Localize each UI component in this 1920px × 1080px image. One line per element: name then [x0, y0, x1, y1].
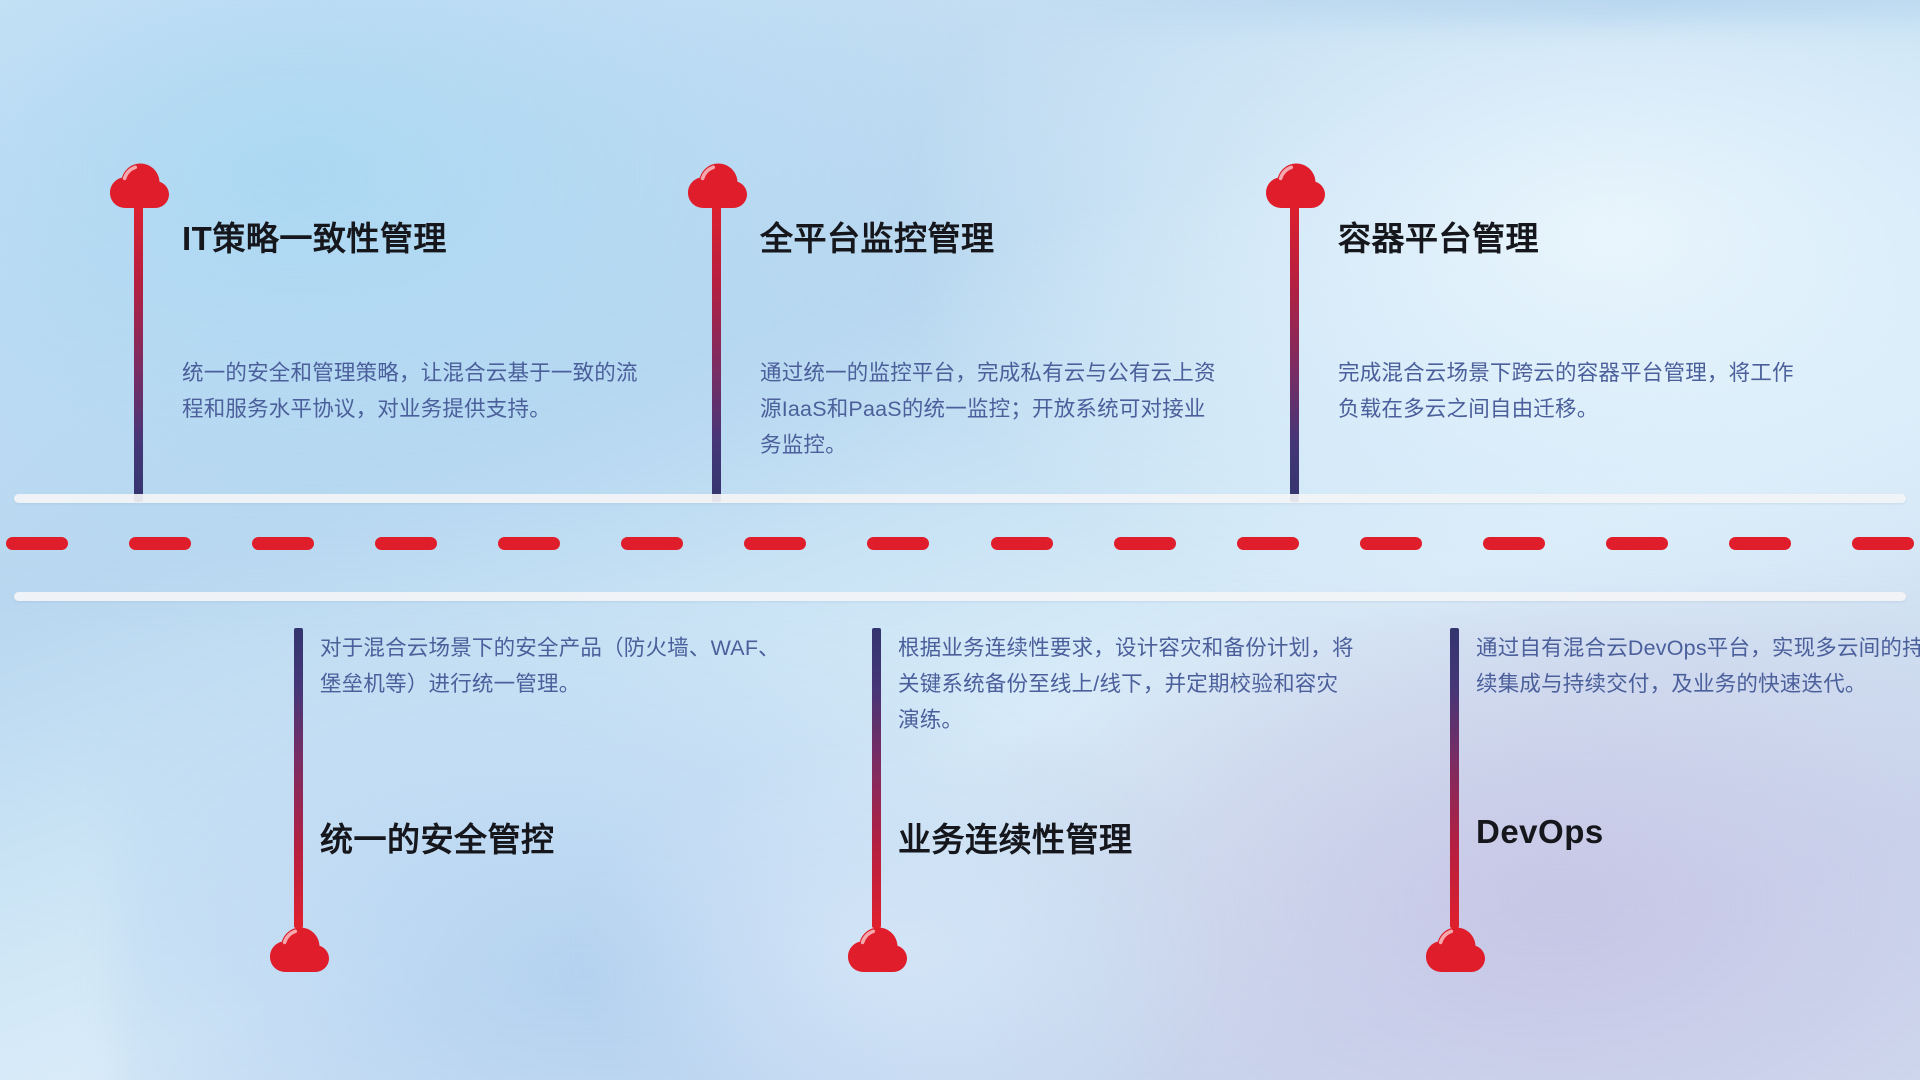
road-dash	[1729, 537, 1791, 550]
road-dash	[621, 537, 683, 550]
card-description: 根据业务连续性要求，设计容灾和备份计划，将关键系统备份至线上/线下，并定期校验和…	[898, 630, 1358, 738]
road-dash	[6, 537, 68, 550]
cloud-icon	[268, 924, 330, 974]
road-dash	[1852, 537, 1914, 550]
road-dash	[1114, 537, 1176, 550]
connector-stem	[294, 628, 303, 928]
card-heading: 业务连续性管理	[898, 813, 1133, 861]
cloud-icon	[1264, 160, 1326, 210]
road-center-dashes	[0, 537, 1920, 550]
card-heading: DevOps	[1476, 813, 1604, 851]
card-heading: 全平台监控管理	[760, 212, 995, 260]
card-heading: IT策略一致性管理	[182, 212, 447, 260]
road-dash	[375, 537, 437, 550]
connector-stem	[1290, 202, 1299, 502]
road-divider	[0, 488, 1920, 598]
road-edge-top	[14, 494, 1906, 503]
connector-stem	[872, 628, 881, 928]
road-dash	[129, 537, 191, 550]
road-dash	[1606, 537, 1668, 550]
cloud-icon	[1424, 924, 1486, 974]
cloud-icon	[846, 924, 908, 974]
road-dash	[498, 537, 560, 550]
card-description: 对于混合云场景下的安全产品（防火墙、WAF、堡垒机等）进行统一管理。	[320, 630, 780, 702]
card-description: 通过统一的监控平台，完成私有云与公有云上资源IaaS和PaaS的统一监控；开放系…	[760, 355, 1220, 463]
card-description: 完成混合云场景下跨云的容器平台管理，将工作负载在多云之间自由迁移。	[1338, 355, 1798, 427]
cloud-icon	[686, 160, 748, 210]
infographic-canvas: IT策略一致性管理 统一的安全和管理策略，让混合云基于一致的流程和服务水平协议，…	[0, 0, 1920, 1080]
card-description: 通过自有混合云DevOps平台，实现多云间的持续集成与持续交付，及业务的快速迭代…	[1476, 630, 1920, 702]
road-dash	[1237, 537, 1299, 550]
road-dash	[991, 537, 1053, 550]
road-dash	[1483, 537, 1545, 550]
connector-stem	[134, 202, 143, 502]
connector-stem	[1450, 628, 1459, 928]
card-heading: 容器平台管理	[1338, 212, 1539, 260]
road-dash	[252, 537, 314, 550]
connector-stem	[712, 202, 721, 502]
road-dash	[867, 537, 929, 550]
road-dash	[1360, 537, 1422, 550]
top-row: IT策略一致性管理 统一的安全和管理策略，让混合云基于一致的流程和服务水平协议，…	[0, 0, 1920, 488]
card-description: 统一的安全和管理策略，让混合云基于一致的流程和服务水平协议，对业务提供支持。	[182, 355, 642, 427]
card-heading: 统一的安全管控	[320, 813, 555, 861]
road-dash	[744, 537, 806, 550]
cloud-icon	[108, 160, 170, 210]
bottom-row: 统一的安全管控 对于混合云场景下的安全产品（防火墙、WAF、堡垒机等）进行统一管…	[0, 598, 1920, 1080]
